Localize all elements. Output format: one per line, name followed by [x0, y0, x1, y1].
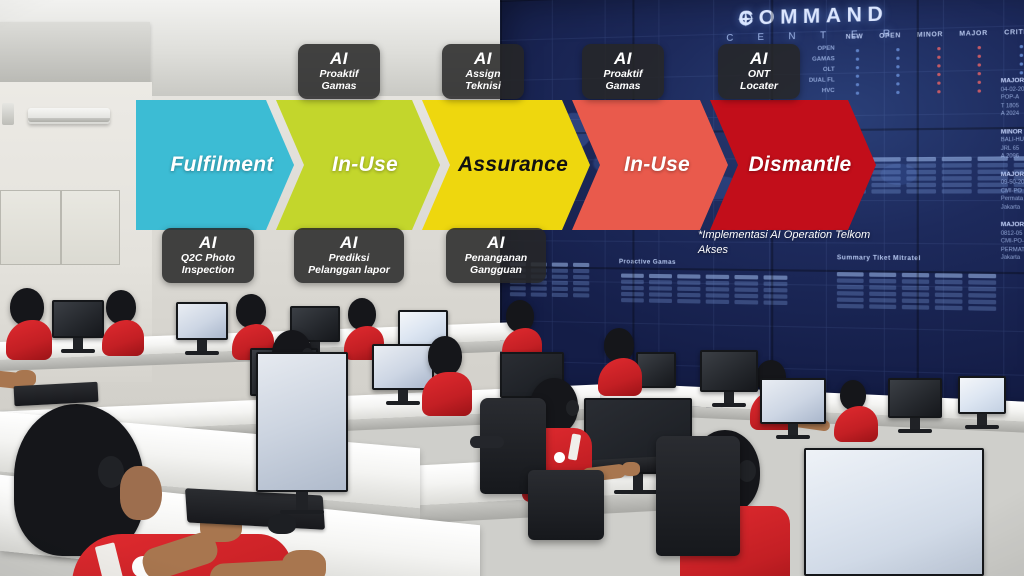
ai-callout-text: Prediksi Pelanggan lapor	[304, 252, 394, 276]
kpi-dots-open	[886, 48, 911, 95]
ticket-line-1: 04-02-2025	[1001, 85, 1024, 94]
ai-tag: AI	[172, 233, 244, 252]
kpi-value-dots	[846, 44, 1024, 95]
kpi-header-major: MAJOR	[959, 31, 988, 38]
ticket-line-4: Jakarta	[1001, 254, 1024, 263]
process-segment-label: In-Use	[610, 153, 690, 177]
ai-callout-text: Proaktif Gamas	[592, 68, 654, 92]
ai-tag: AI	[456, 233, 536, 252]
ai-callout-text: Proaktif Gamas	[308, 68, 370, 92]
ai-tag: AI	[728, 49, 790, 68]
ai-callout-text: Penanganan Gangguan	[456, 252, 536, 276]
kpi-header-critical: CRITICAL	[1004, 29, 1024, 37]
wall-speaker	[2, 103, 14, 125]
ticket-severity: MINOR	[1001, 128, 1023, 135]
ticket-line-2: POP-A	[1001, 93, 1024, 102]
ticket-line-2: CMI-PO-1	[1001, 238, 1024, 247]
ai-callout-proaktif-gamas-top[interactable]: AI Proaktif Gamas	[298, 44, 380, 99]
ticket-line-4: A 2024	[1001, 110, 1024, 119]
kpi-header-new: NEW	[846, 34, 864, 41]
ticket-severity: MAJOR	[1001, 78, 1024, 85]
ai-callout-text: ONT Locater	[728, 68, 790, 92]
process-segment-label: Assurance	[444, 153, 568, 177]
ceiling-soffit	[0, 22, 150, 84]
air-conditioner-unit	[28, 108, 110, 124]
process-segment-assurance[interactable]: Assurance	[422, 100, 590, 230]
process-flow-band: Fulfilment In-Use Assurance In-Use Disma…	[136, 100, 876, 230]
ticket-line-2: JRL 65	[1001, 144, 1024, 153]
ticket-line-4: Jakarta	[1001, 204, 1024, 212]
ai-tag: AI	[304, 233, 394, 252]
panel-title-proactive-gamas: Proactive Gamas	[619, 259, 676, 266]
ai-callout-proaktif-gamas-2[interactable]: AI Proaktif Gamas	[582, 44, 664, 99]
kpi-header-open: OPEN	[879, 33, 901, 40]
process-segment-fulfilment[interactable]: Fulfilment	[136, 100, 294, 230]
ai-callout-text: Q2C Photo Inspection	[172, 252, 244, 276]
ticket-severity: MAJOR	[1001, 222, 1024, 229]
ai-callout-text: Assign Teknisi	[452, 68, 514, 92]
footnote-text: *Implementasi AI Operation Telkom Akses	[698, 228, 878, 258]
ai-callout-penanganan-gangguan[interactable]: AI Penanganan Gangguan	[446, 228, 546, 283]
ai-tag: AI	[308, 49, 370, 68]
kpi-dots-minor	[926, 47, 951, 94]
ac-vent	[28, 118, 110, 122]
ai-tag: AI	[592, 49, 654, 68]
kpi-header-minor: MINOR	[917, 32, 943, 39]
process-segment-in-use-2[interactable]: In-Use	[572, 100, 728, 230]
ticket-line-3: Permata	[1001, 196, 1024, 204]
ai-callout-assign-teknisi[interactable]: AI Assign Teknisi	[442, 44, 524, 99]
process-segment-label: In-Use	[318, 153, 398, 177]
cabinet-divider	[60, 191, 62, 264]
ai-callout-ont-locater[interactable]: AI ONT Locater	[718, 44, 800, 99]
screenshot-stage: COMMAND C E N T E R OPEN GAMAS OLT DUAL …	[0, 0, 1024, 576]
mini-table-right	[837, 272, 996, 311]
process-segment-label: Fulfilment	[156, 153, 273, 177]
ai-callout-prediksi-pelanggan-lapor[interactable]: AI Prediksi Pelanggan lapor	[294, 228, 404, 283]
compass-star-icon	[738, 11, 754, 27]
ai-callout-q2c-photo-inspection[interactable]: AI Q2C Photo Inspection	[162, 228, 254, 283]
kpi-dots-new	[846, 49, 870, 95]
ticket-line-1: BALI-HUB	[1001, 136, 1024, 145]
ai-tag: AI	[452, 49, 514, 68]
process-segment-label: Dismantle	[734, 153, 851, 177]
kpi-dots-major	[967, 46, 992, 93]
wall-cabinet	[0, 190, 120, 265]
ticket-line-3: T 1805	[1001, 102, 1024, 111]
ticket-item: MAJOR 0812-05 CMI-PO-1 PERMATA Jakarta	[1001, 222, 1024, 263]
ticket-item: MAJOR 04-02-2025 POP-A T 1805 A 2024	[1001, 77, 1024, 119]
process-segment-dismantle[interactable]: Dismantle	[710, 100, 876, 230]
process-segment-in-use-1[interactable]: In-Use	[276, 100, 440, 230]
mini-table-center	[621, 274, 787, 306]
